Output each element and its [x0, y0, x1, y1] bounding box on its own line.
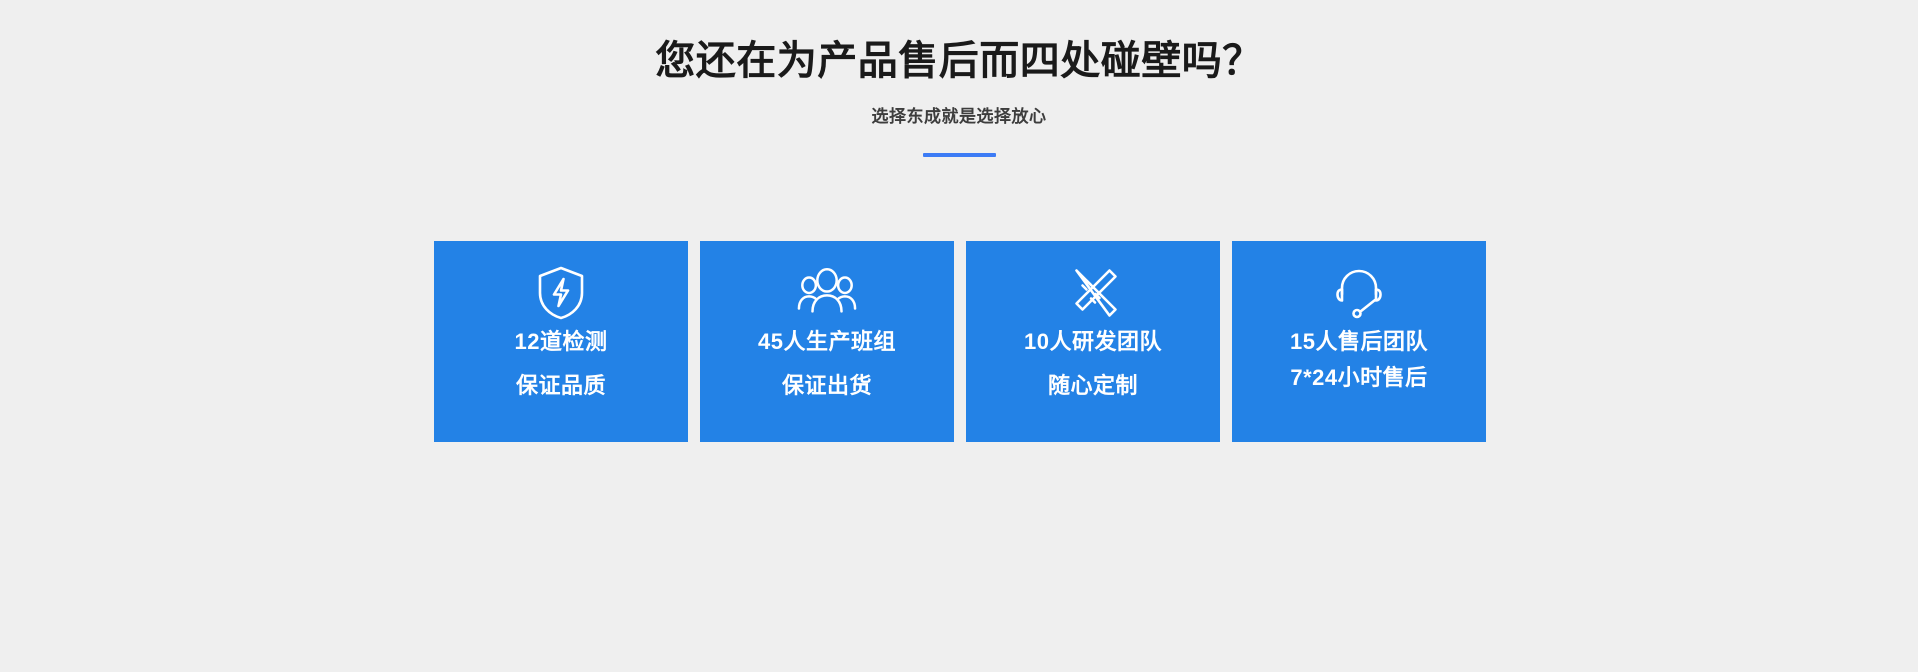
page-subtitle: 选择东成就是选择放心 — [0, 84, 1918, 127]
headset-icon — [1329, 263, 1389, 323]
feature-card-line2: 7*24小时售后 — [1290, 367, 1428, 389]
feature-card-text: 15人售后团队 7*24小时售后 — [1290, 331, 1428, 389]
feature-card-text: 12道检测 保证品质 — [515, 331, 608, 397]
feature-card-text: 45人生产班组 保证出货 — [758, 331, 896, 397]
feature-card-text: 10人研发团队 随心定制 — [1024, 331, 1162, 397]
feature-card-line2: 随心定制 — [1024, 375, 1162, 397]
feature-card-line2: 保证出货 — [758, 375, 896, 397]
page-title: 您还在为产品售后而四处碰壁吗？ — [0, 0, 1918, 84]
feature-card-line2: 保证品质 — [515, 375, 608, 397]
feature-card-support[interactable]: 15人售后团队 7*24小时售后 — [1232, 241, 1486, 442]
people-group-icon — [797, 263, 857, 323]
promo-section: 您还在为产品售后而四处碰壁吗？ 选择东成就是选择放心 12道检测 保证品质 — [0, 0, 1918, 672]
feature-card-line1: 15人售后团队 — [1290, 331, 1428, 353]
accent-divider — [923, 153, 996, 157]
section-header: 您还在为产品售后而四处碰壁吗？ 选择东成就是选择放心 — [0, 0, 1918, 157]
pencil-ruler-icon — [1063, 263, 1123, 323]
feature-card-list: 12道检测 保证品质 45人生产班组 — [434, 241, 1486, 442]
feature-card-line1: 10人研发团队 — [1024, 331, 1162, 353]
shield-bolt-icon — [531, 263, 591, 323]
feature-card-production[interactable]: 45人生产班组 保证出货 — [700, 241, 954, 442]
feature-card-line1: 12道检测 — [515, 331, 608, 353]
feature-card-line1: 45人生产班组 — [758, 331, 896, 353]
feature-card-rnd[interactable]: 10人研发团队 随心定制 — [966, 241, 1220, 442]
feature-card-quality[interactable]: 12道检测 保证品质 — [434, 241, 688, 442]
divider-container — [0, 153, 1918, 157]
